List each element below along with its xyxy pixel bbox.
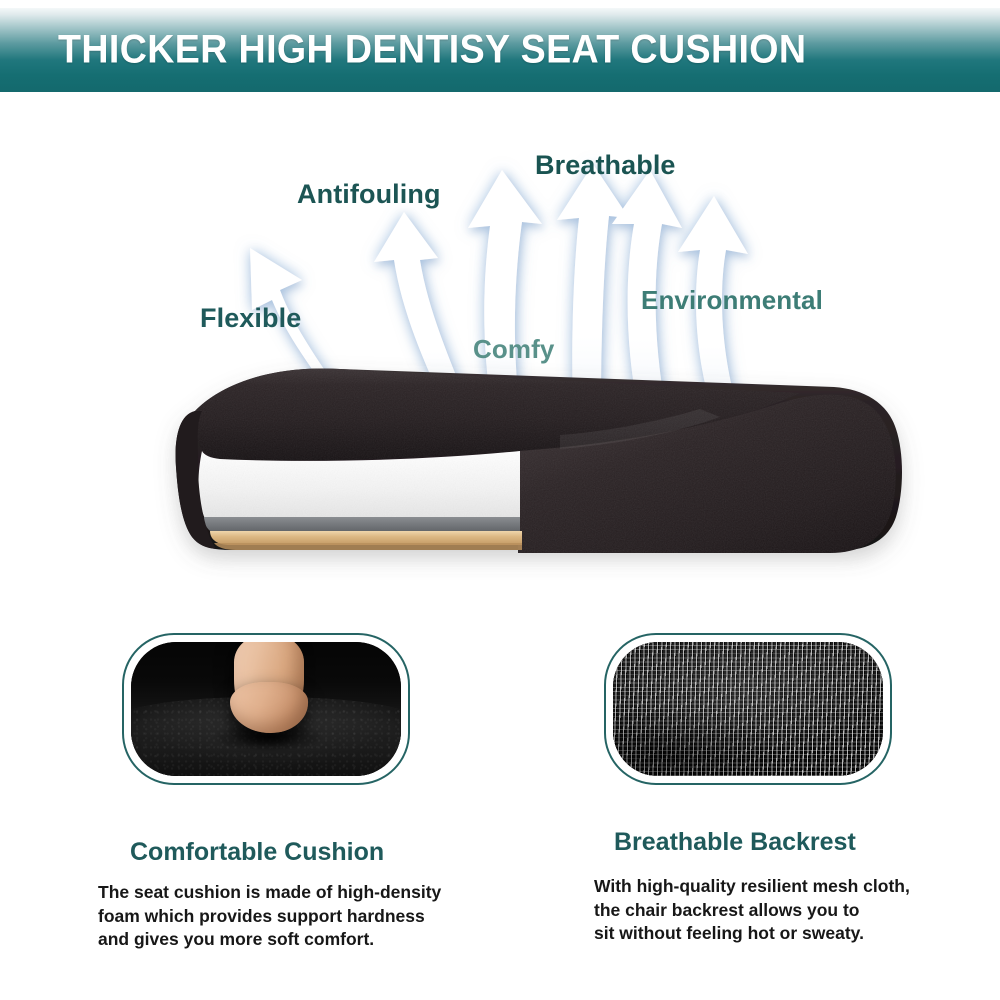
panel-comfortable-cushion <box>122 633 410 785</box>
panel-breathable-backrest <box>604 633 892 785</box>
panel-image-breathable-backrest <box>613 642 883 776</box>
cushion-liner <box>204 517 520 533</box>
cushion-svg <box>140 345 930 580</box>
product-cushion-image <box>140 345 930 580</box>
feature-label-breathable: Breathable <box>535 150 676 181</box>
cushion-wood-base <box>210 531 522 545</box>
caption-title-comfortable-cushion: Comfortable Cushion <box>130 838 384 867</box>
feature-label-antifouling: Antifouling <box>297 179 441 210</box>
page-title: THICKER HIGH DENTISY SEAT CUSHION <box>58 28 854 73</box>
feature-label-flexible: Flexible <box>200 303 301 334</box>
mesh-cloth-texture <box>613 642 883 776</box>
panel-image-comfortable-cushion <box>131 642 401 776</box>
header-banner: THICKER HIGH DENTISY SEAT CUSHION <box>0 8 1000 92</box>
caption-body-breathable-backrest: With high-quality resilient mesh cloth, … <box>594 875 994 946</box>
feature-label-environmental: Environmental <box>641 285 823 316</box>
caption-title-breathable-backrest: Breathable Backrest <box>614 828 856 857</box>
cushion-wood-edge <box>214 543 522 550</box>
infographic-page: THICKER HIGH DENTISY SEAT CUSHION <box>0 0 1000 1000</box>
caption-body-comfortable-cushion: The seat cushion is made of high-density… <box>98 881 498 952</box>
page-title-text: THICKER HIGH DENTISY SEAT CUSHION <box>58 28 806 73</box>
foam-grain <box>199 451 520 521</box>
